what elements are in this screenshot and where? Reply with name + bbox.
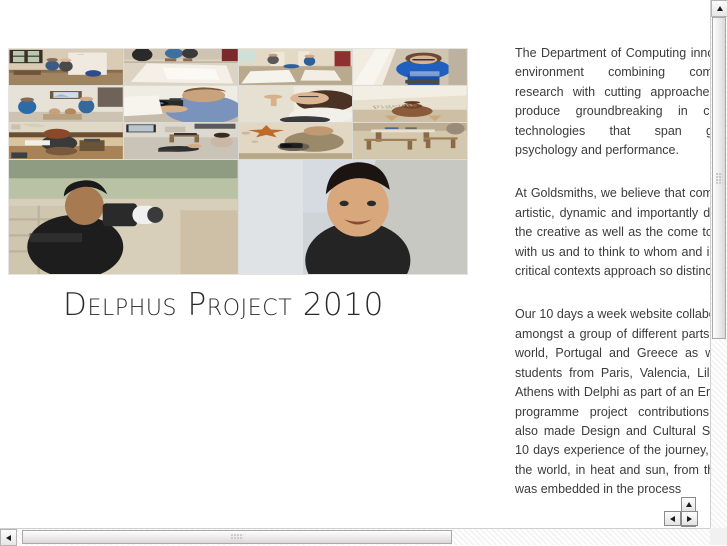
- photo-students-hanging-fabric-icon: [124, 49, 238, 85]
- photo-woman-working-at-desk-icon: [9, 123, 123, 159]
- collage-tile: [124, 123, 238, 159]
- delphus-project-photo-collage: Pigeon: [8, 48, 468, 275]
- photo-photographer-by-starfish-wall-icon: [239, 123, 353, 159]
- page-viewport: Pigeon: [0, 0, 710, 528]
- photo-man-with-dslr-camera-icon: [124, 86, 238, 122]
- photo-person-blue-shirt-in-tent-icon: [353, 49, 467, 85]
- collage-tile: [9, 123, 123, 159]
- collage-tile: [239, 86, 353, 122]
- article-paragraph: The Department of Computing innovative e…: [515, 44, 710, 160]
- collage-tile: Pigeon: [353, 86, 467, 122]
- scroll-grip-icon: [231, 534, 244, 541]
- collage-tile: [239, 49, 353, 85]
- photo-gallery-viewing-framed-picture-icon: [9, 86, 123, 122]
- left-column: Pigeon: [8, 48, 468, 323]
- vertical-scroll-track[interactable]: [711, 17, 727, 528]
- photo-workshop-paper-floor-icon: [239, 49, 353, 85]
- photo-room-with-draped-wall-icon: [9, 49, 123, 85]
- collage-tile: [239, 160, 468, 274]
- horizontal-scroll-thumb[interactable]: [22, 530, 452, 544]
- scroll-left-button[interactable]: [0, 529, 17, 546]
- window-vertical-scrollbar[interactable]: [710, 0, 727, 528]
- collage-tile: [124, 49, 238, 85]
- collage-tile: [353, 123, 467, 159]
- photo-smiling-man-black-tshirt-icon: [239, 160, 468, 274]
- photo-man-shooting-camera-by-stone-wall-icon: [9, 160, 238, 274]
- photo-person-lying-on-floor-with-chairs-icon: [124, 123, 238, 159]
- article-paragraph: At Goldsmiths, we believe that computing…: [515, 184, 710, 281]
- triangle-left-icon: [6, 535, 11, 541]
- collage-tile: [9, 49, 123, 85]
- scroll-grip-icon: [716, 173, 723, 184]
- triangle-right-icon: [687, 516, 692, 522]
- photo-dining-room-tables-and-chairs-icon: [353, 123, 467, 159]
- collage-tile: [124, 86, 238, 122]
- triangle-up-icon: [686, 502, 692, 507]
- inner-scroll-right-button[interactable]: [681, 511, 698, 526]
- inner-frame-horizontal-scrollbar[interactable]: [664, 511, 698, 526]
- collage-tile: [9, 160, 238, 274]
- page-title: Delphus Project 2010: [8, 287, 468, 323]
- photo-clay-pot-on-white-cloth-icon: Pigeon: [353, 86, 467, 122]
- collage-tile: [353, 49, 467, 85]
- scrollbar-corner: [710, 528, 727, 545]
- triangle-left-icon: [670, 516, 675, 522]
- article-text-column: The Department of Computing innovative e…: [515, 44, 710, 500]
- vertical-scroll-thumb[interactable]: [712, 17, 726, 339]
- triangle-up-icon: [717, 6, 723, 11]
- scroll-up-button[interactable]: [711, 0, 727, 17]
- article-paragraph: Our 10 days a week website collaboration…: [515, 305, 710, 499]
- window-horizontal-scrollbar[interactable]: [0, 528, 710, 545]
- inner-scroll-up-button[interactable]: [681, 497, 696, 512]
- collage-tile: [9, 86, 123, 122]
- inner-scroll-left-button[interactable]: [664, 511, 681, 526]
- collage-tile: [239, 123, 353, 159]
- photo-woman-curly-hair-gesturing-icon: [239, 86, 353, 122]
